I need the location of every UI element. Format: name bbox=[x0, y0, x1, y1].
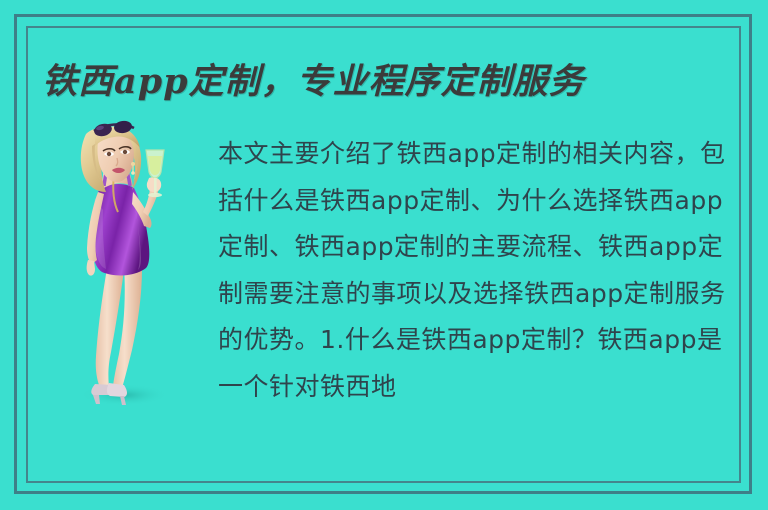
left-hand bbox=[87, 260, 95, 276]
earring-bead bbox=[131, 171, 135, 175]
right-pupil bbox=[123, 150, 127, 154]
right-shoe bbox=[107, 383, 127, 397]
page-title: 铁西app定制，专业程序定制服务 bbox=[42, 60, 702, 104]
body-paragraph: 本文主要介绍了铁西app定制的相关内容，包括什么是铁西app定制、为什么选择铁西… bbox=[218, 131, 742, 421]
left-pupil bbox=[107, 152, 111, 156]
earring bbox=[131, 162, 135, 166]
champagne-glass-base bbox=[148, 193, 162, 197]
woman-in-purple-dress-with-champagne-illustration bbox=[62, 112, 222, 412]
champagne-glass-stem bbox=[154, 178, 157, 194]
poster-canvas: 本文主要介绍了铁西app定制的相关内容，包括什么是铁西app定制、为什么选择铁西… bbox=[0, 0, 768, 510]
